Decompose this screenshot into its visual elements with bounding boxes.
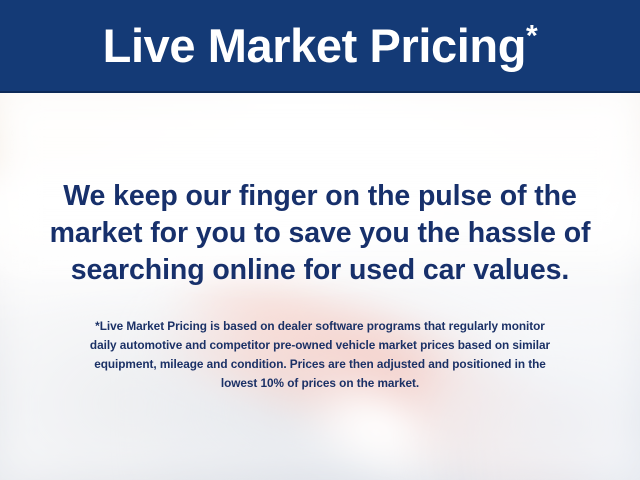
page-title-text: Live Market Pricing xyxy=(103,19,526,72)
header-bar: Live Market Pricing* xyxy=(0,0,640,92)
disclaimer-line-4: lowest 10% of prices on the market. xyxy=(26,374,614,393)
headline-line-2: market for you to save you the hassle of xyxy=(22,215,618,252)
disclaimer-line-1: *Live Market Pricing is based on dealer … xyxy=(26,317,614,336)
page-title-asterisk: * xyxy=(526,19,537,52)
header-bottom-rule xyxy=(0,91,640,93)
page-title: Live Market Pricing* xyxy=(103,22,538,71)
disclaimer-line-3: equipment, mileage and condition. Prices… xyxy=(26,355,614,374)
live-market-pricing-banner: Live Market Pricing* We keep our finger … xyxy=(0,0,640,480)
disclaimer: *Live Market Pricing is based on dealer … xyxy=(0,317,640,393)
disclaimer-line-2: daily automotive and competitor pre-owne… xyxy=(26,336,614,355)
headline-line-1: We keep our finger on the pulse of the xyxy=(22,178,618,215)
headline: We keep our finger on the pulse of the m… xyxy=(0,178,640,289)
headline-line-3: searching online for used car values. xyxy=(22,252,618,289)
